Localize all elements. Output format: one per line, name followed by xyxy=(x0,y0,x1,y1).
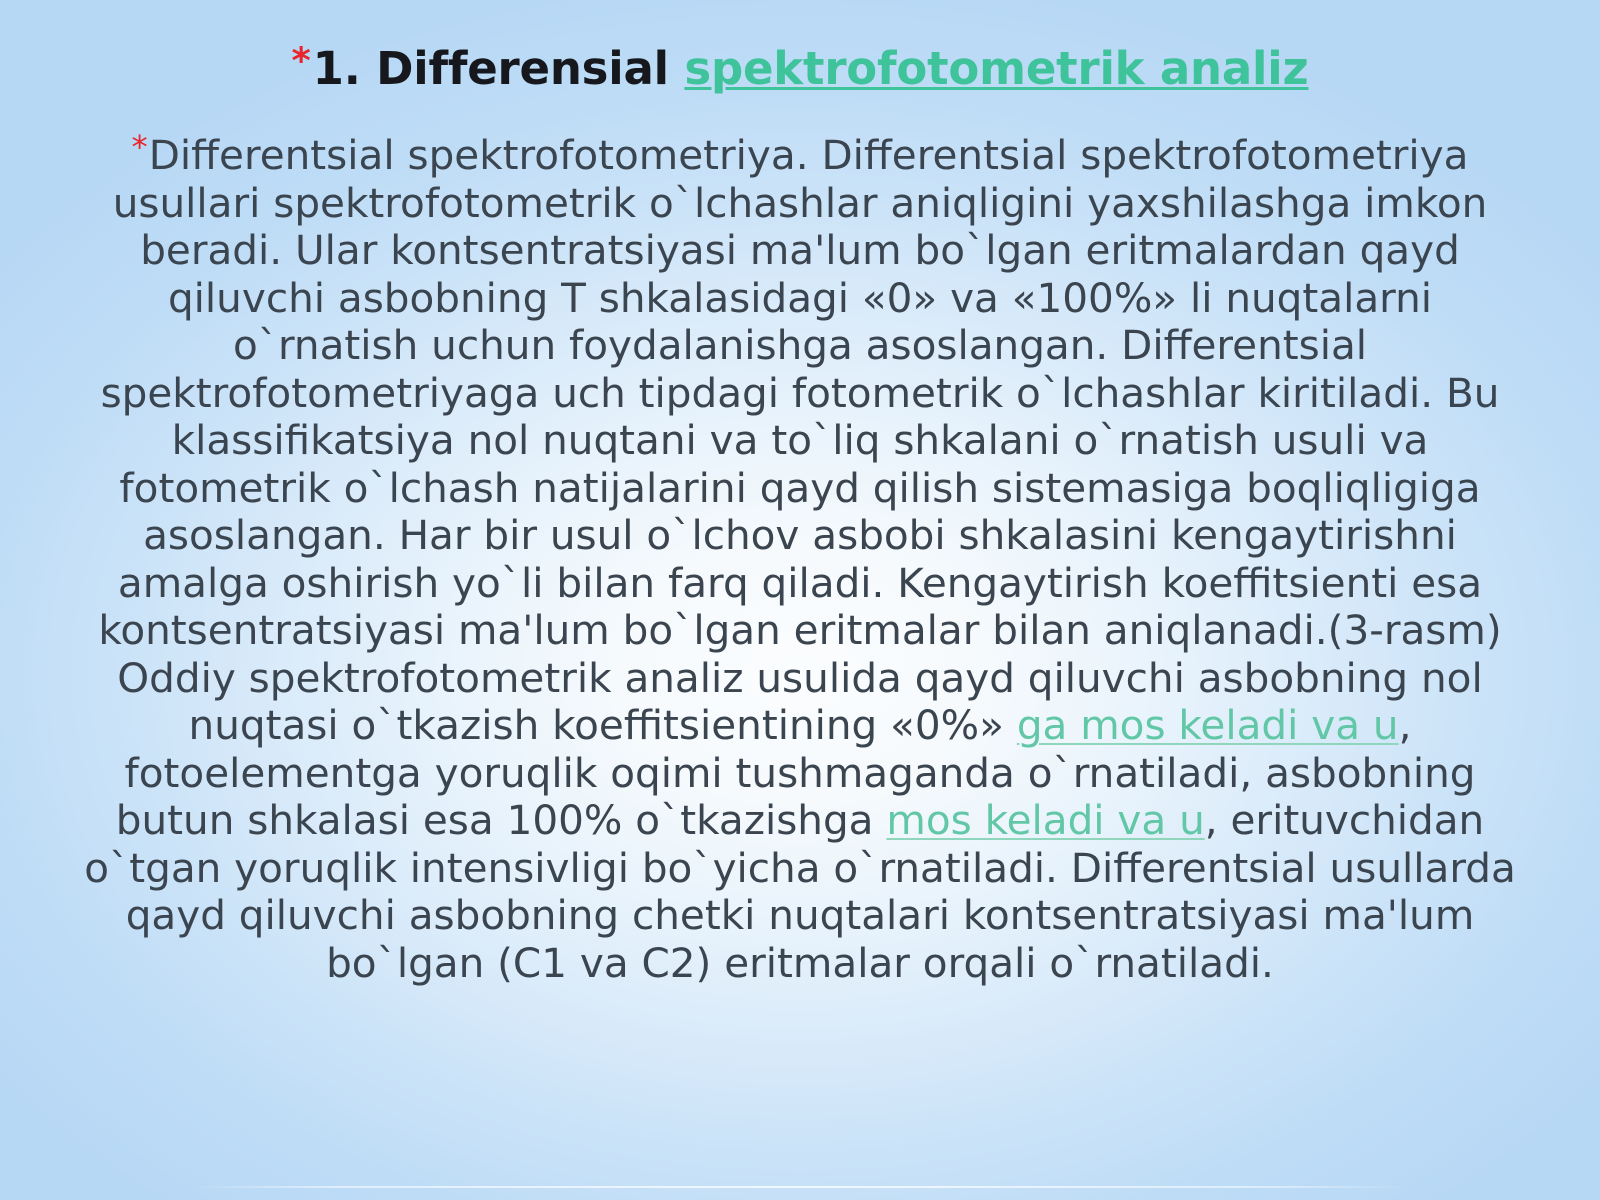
body-hyperlink-2[interactable]: mos keladi va u xyxy=(886,796,1204,844)
body-segment-1: Differentsial spektrofotometriya. Differ… xyxy=(98,131,1501,749)
title-line: *1. Differensial spektrofotometrik anali… xyxy=(60,42,1540,92)
title-hyperlink[interactable]: spektrofotometrik analiz xyxy=(684,42,1308,95)
slide-title: *1. Differensial spektrofotometrik anali… xyxy=(0,42,1600,92)
slide-canvas: *1. Differensial spektrofotometrik anali… xyxy=(0,0,1600,1200)
body-paragraph: *Differentsial spektrofotometriya. Diffe… xyxy=(82,124,1518,987)
body-bullet-star-icon: * xyxy=(132,124,148,172)
title-bullet-star-icon: * xyxy=(292,42,311,81)
body-hyperlink-1[interactable]: ga mos keladi va u xyxy=(1017,701,1399,749)
footer-divider xyxy=(190,1186,1410,1188)
slide-body: *Differentsial spektrofotometriya. Diffe… xyxy=(82,124,1518,987)
title-plain-text: 1. Differensial xyxy=(313,42,685,95)
